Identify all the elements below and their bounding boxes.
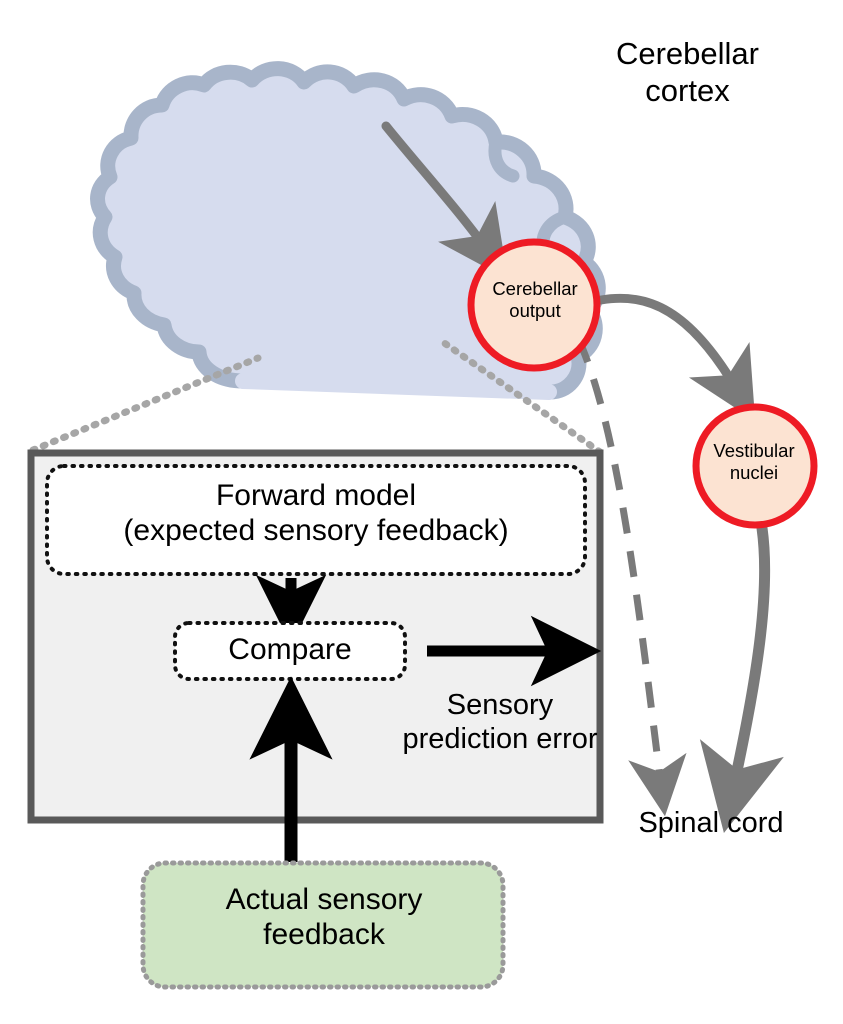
cerebellar-cortex-text-line-2: cortex: [545, 73, 830, 110]
vestibular-nuclei-text-line-2: nuclei: [680, 462, 828, 484]
actual-sensory-feedback-text-line-2: feedback: [148, 917, 500, 952]
forward-model-text-line-2: (expected sensory feedback): [50, 513, 582, 548]
cerebellar-output-label: Cerebellar output: [455, 278, 615, 322]
cerebellar-cortex-text-line-1: Cerebellar: [545, 36, 830, 73]
diagram-canvas: Cerebellar cortex Cerebellar cortex Cere…: [0, 0, 843, 1024]
arrow-vestibular-to-spinal: [733, 528, 765, 790]
cerebellar-output-text-line-1: Cerebellar: [455, 278, 615, 300]
sensory-prediction-error-text-line-1: Sensory: [400, 688, 600, 722]
sensory-prediction-error-label: Sensory prediction error: [400, 688, 600, 756]
cerebellar-output-text-line-2: output: [455, 300, 615, 322]
forward-model-text-line-1: Forward model: [50, 478, 582, 513]
compare-label: Compare: [176, 632, 404, 667]
actual-sensory-feedback-label: Actual sensory feedback: [148, 882, 500, 953]
cerebellar-cortex-label: Cerebellar cortex Cerebellar cortex: [545, 36, 830, 109]
arrow-output-to-vestibular: [601, 298, 737, 390]
vestibular-nuclei-text-line-1: Vestibular: [680, 440, 828, 462]
spinal-cord-label: Spinal cord: [596, 806, 826, 840]
forward-model-label: Forward model (expected sensory feedback…: [50, 478, 582, 549]
sensory-prediction-error-text-line-2: prediction error: [400, 722, 600, 756]
actual-sensory-feedback-text-line-1: Actual sensory: [148, 882, 500, 917]
vestibular-nuclei-label: Vestibular nuclei: [680, 440, 828, 484]
